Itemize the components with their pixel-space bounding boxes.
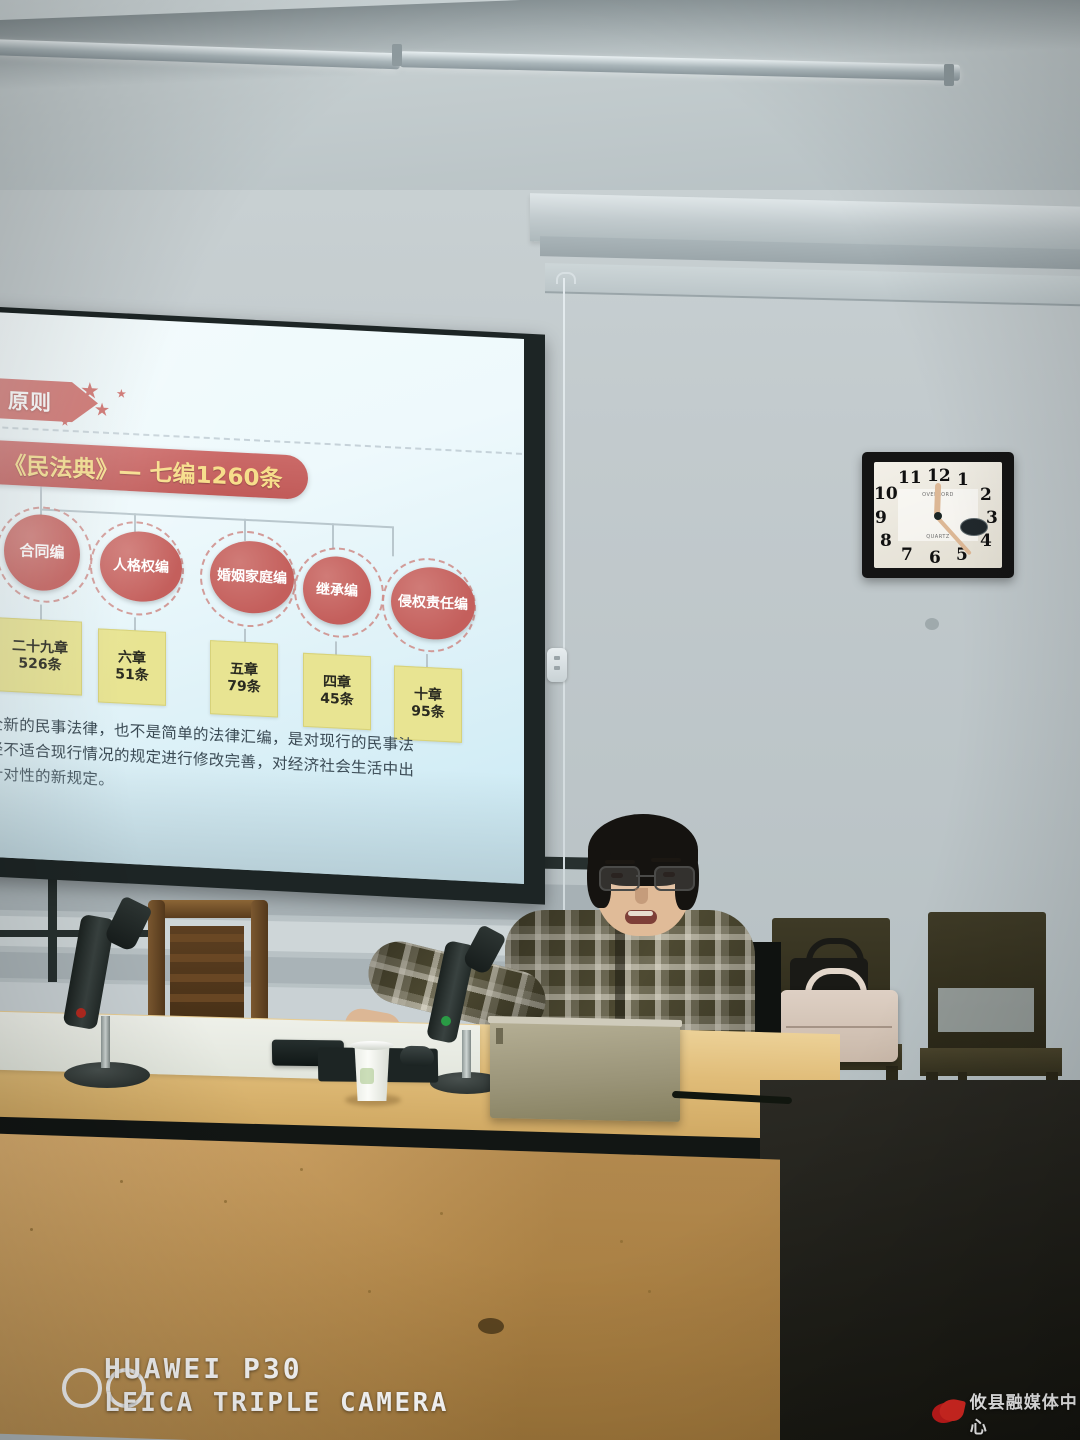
clock-sub-label: QUARTZ [905,534,971,540]
tube-end [944,64,954,86]
clock-center-pin [934,512,942,520]
clock-numeral: 9 [875,508,887,528]
station-logo-text: 攸县融媒体中心 [970,1388,1080,1438]
slide-content: 原则 ★ ★ ★ ★ ★ 《民法典》— 七编1260条 [0,311,524,884]
desk-cable-hole [478,1318,504,1335]
eyebrow [651,858,681,862]
clock-numeral: 2 [980,485,992,505]
eye [663,872,675,877]
device-watermark-line2: LEICA TRIPLE CAMERA [104,1388,449,1418]
clock-numeral: 8 [880,531,892,551]
clock-emblem [960,518,988,536]
tube-end [392,44,402,66]
station-logo: 攸县融媒体中心 [932,1388,1080,1438]
eye [611,873,623,878]
clock-numeral: 1 [957,470,969,490]
microphone-stem [462,1030,471,1078]
laptop-badge [496,1028,503,1044]
photo-scene: OVERLORD QUARTZ 12 1 2 3 4 5 6 7 8 9 10 … [0,0,1080,1440]
floor [760,1080,1080,1440]
computer-mouse[interactable] [400,1046,434,1067]
projection-screen: 原则 ★ ★ ★ ★ ★ 《民法典》— 七编1260条 [0,311,524,884]
cord-hook [556,272,576,284]
screen-remote-switch[interactable] [547,648,567,682]
clock-numeral: 10 [874,484,898,504]
teeth [628,911,653,916]
clock-numeral: 11 [898,468,922,488]
microphone-led-icon[interactable] [76,1008,86,1018]
wall-blemish [925,618,939,630]
clock-numeral: 6 [929,548,941,568]
cup-decoration [360,1068,374,1084]
microphone-stem [101,1016,110,1068]
laptop[interactable] [490,1018,680,1122]
eyebrow [605,860,635,864]
clock-numeral: 7 [901,545,913,565]
cup-rim [350,1041,394,1050]
station-logo-icon [932,1399,962,1427]
device-watermark-line1: HUAWEI P30 [104,1352,303,1385]
microphone-led-icon[interactable] [441,1016,451,1026]
nose [635,888,648,904]
bag-seam [786,1026,892,1028]
